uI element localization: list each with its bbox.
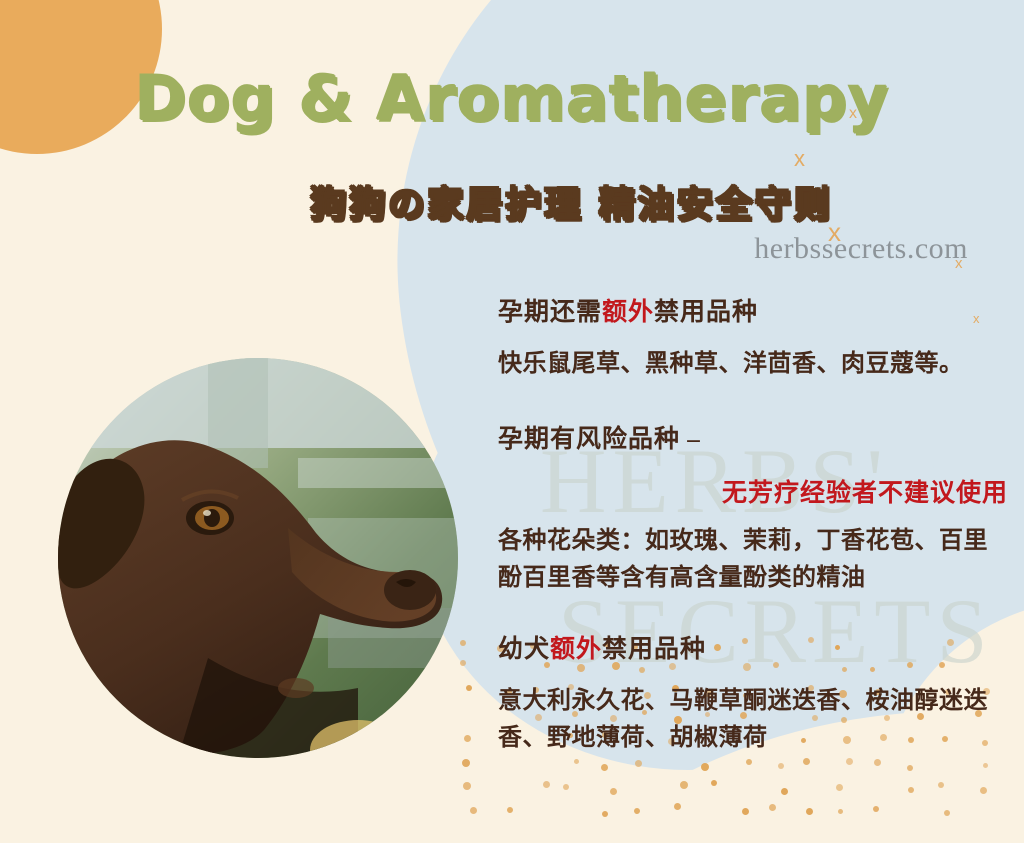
section-puppy-banned: 幼犬额外禁用品种 意大利永久花、马鞭草酮迷迭香、桉油醇迷迭香、野地薄荷、胡椒薄荷 xyxy=(498,633,1008,757)
spacer xyxy=(498,603,1008,633)
section-body: 各种花朵类：如玫瑰、茉莉，丁香花苞、百里酚百里香等含有高含量酚类的精油 xyxy=(498,523,1008,597)
decorative-dot xyxy=(563,784,569,790)
section-body: 意大利永久花、马鞭草酮迷迭香、桉油醇迷迭香、野地薄荷、胡椒薄荷 xyxy=(498,683,1008,757)
section-heading: 孕期有风险品种 – xyxy=(498,423,1008,457)
heading-post: 禁用品种 xyxy=(654,299,758,326)
decorative-dot xyxy=(543,781,550,788)
page-subtitle: 狗狗の家居护理 精油安全守则 xyxy=(0,176,1024,228)
decorative-dot xyxy=(944,810,950,816)
decorative-dot xyxy=(742,808,749,815)
section-heading: 幼犬额外禁用品种 xyxy=(498,633,1008,667)
decorative-dot xyxy=(463,782,471,790)
decorative-dot xyxy=(908,787,914,793)
cream-bottom-band xyxy=(0,791,1024,843)
decorative-dot xyxy=(674,803,681,810)
decorative-dot xyxy=(701,763,709,771)
decorative-dot xyxy=(680,781,688,789)
section-body: 快乐鼠尾草、黑种草、洋茴香、肉豆蔻等。 xyxy=(498,346,1008,383)
section-heading: 孕期还需额外禁用品种 xyxy=(498,296,1008,330)
section-pregnancy-banned: 孕期还需额外禁用品种 快乐鼠尾草、黑种草、洋茴香、肉豆蔻等。 xyxy=(498,296,1008,383)
decorative-dot xyxy=(602,811,608,817)
decorative-dot xyxy=(838,809,843,814)
heading-pre: 幼犬 xyxy=(498,636,550,663)
poster-canvas: HERBS' SECRETS xxxxx Dog & Aromatherapy … xyxy=(0,0,1024,843)
decorative-dot xyxy=(466,685,472,691)
heading-red: 额外 xyxy=(602,299,654,326)
dog-photo xyxy=(58,358,458,758)
heading-red: 额外 xyxy=(550,636,602,663)
decorative-dot xyxy=(907,765,913,771)
decorative-dot xyxy=(980,787,987,794)
decorative-dot xyxy=(464,735,471,742)
heading-post: 禁用品种 xyxy=(602,636,706,663)
decorative-dot xyxy=(601,764,608,771)
decorative-dot xyxy=(462,759,470,767)
dog-photo-illustration xyxy=(58,358,458,758)
decorative-dot xyxy=(938,782,944,788)
heading-pre: 孕期有风险品种 – xyxy=(498,426,701,453)
decorative-dot xyxy=(836,784,843,791)
content-column: 孕期还需额外禁用品种 快乐鼠尾草、黑种草、洋茴香、肉豆蔻等。 孕期有风险品种 –… xyxy=(498,296,1008,763)
page-title: Dog & Aromatherapy xyxy=(0,62,1024,135)
spacer xyxy=(498,389,1008,423)
decorative-dot xyxy=(806,808,813,815)
section-red-note: 无芳疗经验者不建议使用 xyxy=(498,473,1008,509)
heading-pre: 孕期还需 xyxy=(498,299,602,326)
website-url: herbssecrets.com xyxy=(754,232,968,266)
section-pregnancy-risk: 孕期有风险品种 – 无芳疗经验者不建议使用 各种花朵类：如玫瑰、茉莉，丁香花苞、… xyxy=(498,423,1008,597)
decorative-x-icon: x xyxy=(794,148,805,170)
